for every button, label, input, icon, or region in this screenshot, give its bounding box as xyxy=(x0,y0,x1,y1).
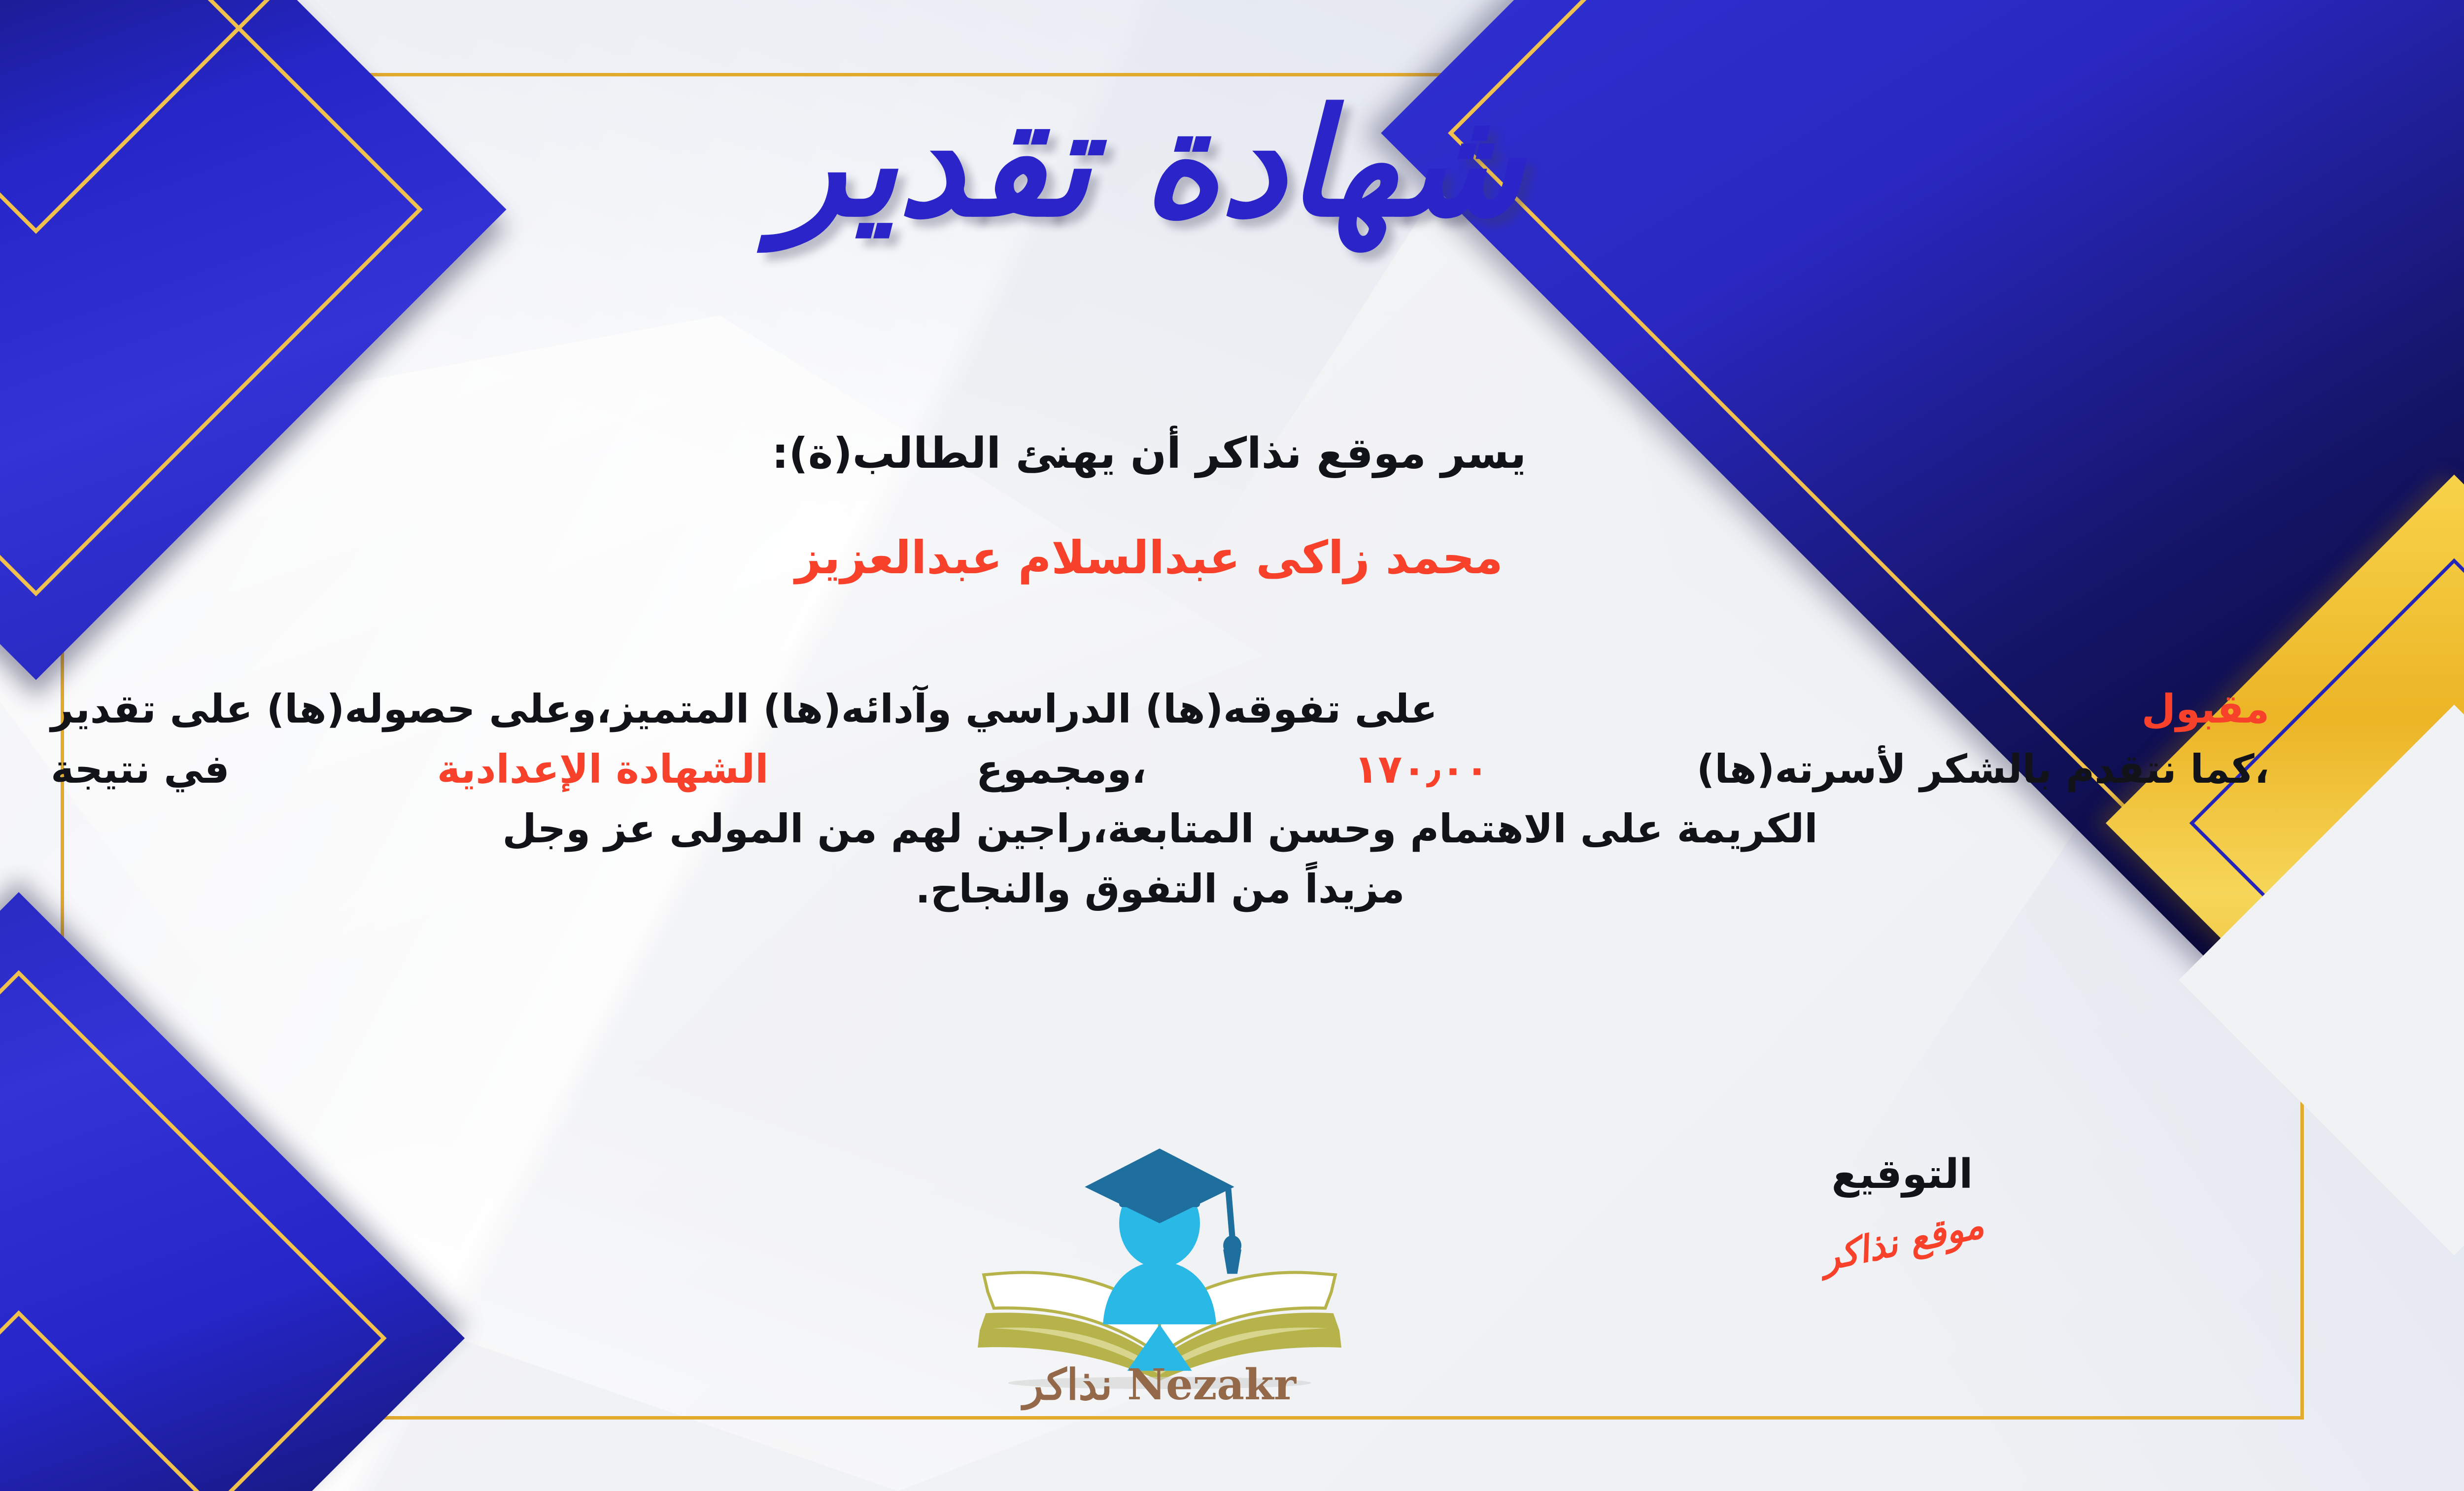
body-line-4: مزيداً من التفوق والنجاح. xyxy=(51,859,2269,919)
logo-wordmark: Nezakr نذاكر xyxy=(958,1360,1362,1410)
brand-logo: Nezakr نذاكر xyxy=(958,1129,1362,1405)
page-title: شهادة تقدير xyxy=(0,69,2464,258)
body-line-2-head: في نتيجة xyxy=(51,739,230,799)
signature-block: التوقيع موقع نذاكر xyxy=(1730,1151,2075,1263)
certificate-content: شهادة تقدير يسر موقع نذاكر أن يهنئ الطال… xyxy=(0,0,2464,1491)
certificate-body: مقبول على تفوقه(ها) الدراسي وآدائه(ها) ا… xyxy=(51,679,2269,919)
body-line-2-tail: ،كما نتقدم بالشكر لأسرته(ها) xyxy=(1697,739,2269,799)
body-line-3: الكريمة على الاهتمام وحسن المتابعة،راجين… xyxy=(51,799,2269,859)
signature-mark: موقع نذاكر xyxy=(1817,1204,1987,1280)
signature-label: التوقيع xyxy=(1730,1151,2075,1198)
body-line-1: مقبول على تفوقه(ها) الدراسي وآدائه(ها) ا… xyxy=(51,679,2269,739)
certificate-page: شهادة تقدير يسر موقع نذاكر أن يهنئ الطال… xyxy=(0,0,2464,1491)
grade-value: مقبول xyxy=(2142,679,2269,739)
total-score-value: ١٧٠٫٠٠ xyxy=(1354,739,1489,799)
greeting-text: يسر موقع نذاكر أن يهنئ الطالب(ة): xyxy=(0,429,2464,478)
student-name: محمد زاكى عبدالسلام عبدالعزيز xyxy=(0,531,2464,584)
body-line-2-mid: ،ومجموع xyxy=(976,739,1147,799)
body-line-1-text: على تفوقه(ها) الدراسي وآدائه(ها) المتميز… xyxy=(51,679,1437,739)
exam-name-value: الشهادة الإعدادية xyxy=(437,739,769,799)
body-line-2: ،كما نتقدم بالشكر لأسرته(ها) ١٧٠٫٠٠ ،ومج… xyxy=(51,739,2269,799)
